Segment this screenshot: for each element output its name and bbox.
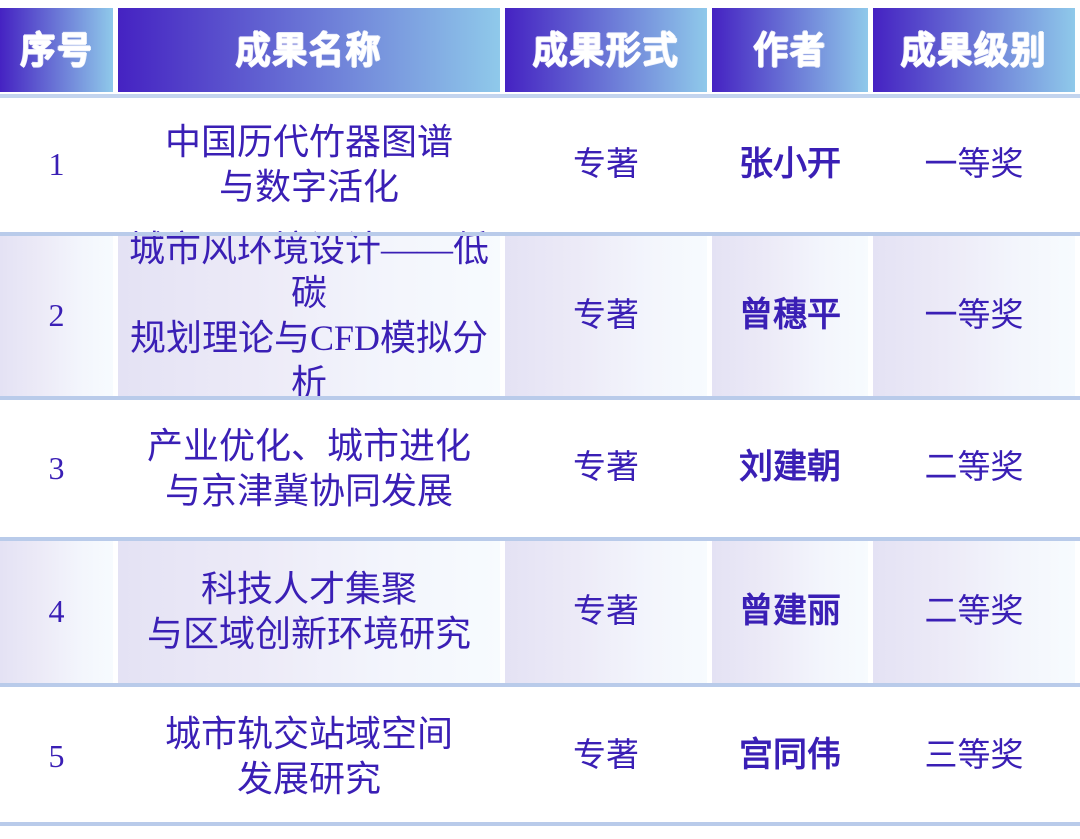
cell-text-author: 宫同伟 [739,735,841,777]
header-cell-author[interactable]: 作者 [712,8,868,92]
cell-author: 张小开 [712,98,868,232]
cell-form: 专著 [505,98,707,232]
table-row[interactable]: 4科技人才集聚 与区域创新环境研究专著曾建丽二等奖 [0,537,1080,687]
cell-level: 一等奖 [873,98,1075,232]
cell-title: 城市轨交站域空间 发展研究 [118,687,500,826]
table-row[interactable]: 3产业优化、城市进化 与京津冀协同发展专著刘建朝二等奖 [0,400,1080,537]
table-body: 1中国历代竹器图谱 与数字活化专著张小开一等奖2城市风环境设计——低碳 规划理论… [0,98,1080,826]
cell-author: 刘建朝 [712,400,868,537]
table-bottom-rule [0,822,1080,826]
cell-title: 中国历代竹器图谱 与数字活化 [118,98,500,232]
cell-text-title: 城市轨交站域空间 发展研究 [165,712,453,801]
cell-text-level: 二等奖 [925,592,1024,633]
cell-title: 城市风环境设计——低碳 规划理论与CFD模拟分析 [118,232,500,400]
cell-form: 专著 [505,687,707,826]
cell-text-form: 专著 [573,592,639,633]
cell-text-index: 4 [49,592,65,632]
cell-form: 专著 [505,232,707,400]
cell-level: 二等奖 [873,537,1075,687]
cell-text-form: 专著 [573,145,639,186]
cell-text-index: 3 [49,449,65,489]
cell-text-form: 专著 [573,448,639,489]
cell-text-level: 一等奖 [925,296,1024,337]
cell-text-title: 产业优化、城市进化 与京津冀协同发展 [147,424,471,513]
row-separator [0,537,1080,541]
cell-form: 专著 [505,400,707,537]
cell-title: 科技人才集聚 与区域创新环境研究 [118,537,500,687]
table-header-row: 序号成果名称成果形式作者成果级别 [0,8,1080,92]
cell-text-index: 5 [49,737,65,777]
cell-level: 二等奖 [873,400,1075,537]
cell-author: 曾穗平 [712,232,868,400]
header-label-level: 成果级别 [901,32,1048,69]
cell-text-level: 一等奖 [925,145,1024,186]
cell-text-title: 中国历代竹器图谱 与数字活化 [165,120,453,209]
header-cell-level[interactable]: 成果级别 [873,8,1075,92]
cell-form: 专著 [505,537,707,687]
cell-text-level: 三等奖 [925,736,1024,777]
cell-index: 2 [0,232,113,400]
header-label-form: 成果形式 [533,32,680,69]
header-cell-form[interactable]: 成果形式 [505,8,707,92]
cell-text-index: 2 [49,296,65,336]
cell-level: 一等奖 [873,232,1075,400]
cell-level: 三等奖 [873,687,1075,826]
table-row[interactable]: 5城市轨交站域空间 发展研究专著宫同伟三等奖 [0,687,1080,826]
header-cell-title[interactable]: 成果名称 [118,8,500,92]
cell-index: 5 [0,687,113,826]
cell-text-author: 曾穗平 [739,295,841,337]
cell-text-level: 二等奖 [925,448,1024,489]
cell-text-author: 刘建朝 [739,447,841,489]
row-separator [0,232,1080,236]
cell-author: 宫同伟 [712,687,868,826]
cell-text-form: 专著 [573,296,639,337]
header-label-author: 作者 [753,32,826,69]
cell-index: 1 [0,98,113,232]
cell-text-author: 曾建丽 [739,591,841,633]
table-row[interactable]: 1中国历代竹器图谱 与数字活化专著张小开一等奖 [0,98,1080,232]
cell-title: 产业优化、城市进化 与京津冀协同发展 [118,400,500,537]
header-cell-index[interactable]: 序号 [0,8,113,92]
cell-text-title: 城市风环境设计——低碳 规划理论与CFD模拟分析 [118,227,500,406]
cell-text-author: 张小开 [739,144,841,186]
cell-text-index: 1 [49,145,65,185]
header-label-title: 成果名称 [236,32,383,69]
cell-author: 曾建丽 [712,537,868,687]
cell-text-form: 专著 [573,736,639,777]
cell-index: 4 [0,537,113,687]
cell-text-title: 科技人才集聚 与区域创新环境研究 [147,567,471,656]
header-label-index: 序号 [20,32,93,69]
results-table: 序号成果名称成果形式作者成果级别 1中国历代竹器图谱 与数字活化专著张小开一等奖… [0,0,1080,839]
table-row[interactable]: 2城市风环境设计——低碳 规划理论与CFD模拟分析专著曾穗平一等奖 [0,232,1080,400]
cell-index: 3 [0,400,113,537]
